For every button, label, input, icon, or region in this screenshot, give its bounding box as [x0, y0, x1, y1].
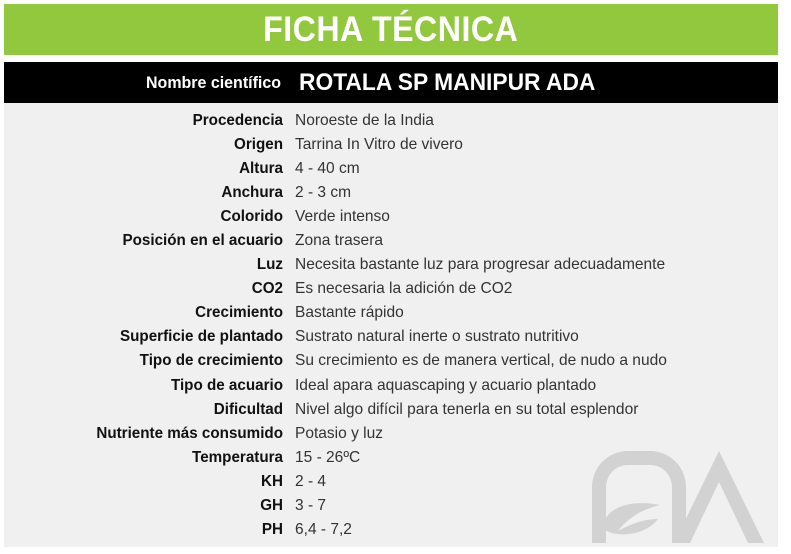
header-banner: FICHA TÉCNICA [4, 4, 778, 55]
spec-row: CO2Es necesaria la adición de CO2 [4, 281, 778, 305]
spec-row: ColoridoVerde intenso [4, 209, 778, 233]
spec-value: 2 - 3 cm [295, 185, 351, 201]
spec-label: Tipo de acuario [18, 378, 283, 394]
spec-row: LuzNecesita bastante luz para progresar … [4, 257, 778, 281]
spec-row: PH6,4 - 7,2 [4, 522, 778, 546]
spec-label: CO2 [18, 281, 283, 297]
spec-row: KH2 - 4 [4, 474, 778, 498]
spec-row: GH3 - 7 [4, 498, 778, 522]
spec-value: 2 - 4 [295, 474, 326, 490]
spec-row: Superficie de plantadoSustrato natural i… [4, 329, 778, 353]
spec-label: PH [18, 522, 283, 538]
spec-row: Tipo de acuarioIdeal apara aquascaping y… [4, 378, 778, 402]
spec-value: Bastante rápido [295, 305, 404, 321]
spec-label: KH [18, 474, 283, 490]
spec-row: Anchura2 - 3 cm [4, 185, 778, 209]
spec-row: Tipo de crecimientoSu crecimiento es de … [4, 353, 778, 377]
spec-label: Luz [18, 257, 283, 273]
spec-row: CrecimientoBastante rápido [4, 305, 778, 329]
spec-value: 15 - 26ºC [295, 450, 360, 466]
spec-value: Su crecimiento es de manera vertical, de… [295, 353, 667, 369]
spec-value: Tarrina In Vitro de vivero [295, 137, 463, 153]
spec-label: Nutriente más consumido [18, 426, 283, 442]
spec-value: 4 - 40 cm [295, 161, 360, 177]
spec-label: Temperatura [18, 450, 283, 466]
spec-value: Potasio y luz [295, 426, 383, 442]
spec-row: Nutriente más consumidoPotasio y luz [4, 426, 778, 450]
spec-row: Temperatura15 - 26ºC [4, 450, 778, 474]
specs-table: ProcedenciaNoroeste de la IndiaOrigenTar… [4, 113, 778, 546]
page-title: FICHA TÉCNICA [263, 12, 518, 47]
scientific-name-label: Nombre científico [21, 74, 281, 91]
spec-value: Sustrato natural inerte o sustrato nutri… [295, 329, 579, 345]
spec-value: Noroeste de la India [295, 113, 434, 129]
spec-label: Altura [18, 161, 283, 177]
spec-label: Anchura [18, 185, 283, 201]
spec-row: Posición en el acuarioZona trasera [4, 233, 778, 257]
specs-panel: ProcedenciaNoroeste de la IndiaOrigenTar… [4, 103, 778, 547]
spec-label: GH [18, 498, 283, 514]
spec-value: 3 - 7 [295, 498, 326, 514]
spec-value: Zona trasera [295, 233, 383, 249]
spec-label: Crecimiento [18, 305, 283, 321]
spec-value: 6,4 - 7,2 [295, 522, 352, 538]
ficha-tecnica-page: FICHA TÉCNICA Nombre científico ROTALA S… [0, 0, 791, 554]
scientific-name-band: Nombre científico ROTALA SP MANIPUR ADA [4, 62, 778, 103]
spec-label: Procedencia [18, 113, 283, 129]
spec-value: Es necesaria la adición de CO2 [295, 281, 512, 297]
spec-label: Origen [18, 137, 283, 153]
spec-value: Verde intenso [295, 209, 390, 225]
spec-row: Altura4 - 40 cm [4, 161, 778, 185]
spec-value: Necesita bastante luz para progresar ade… [295, 257, 665, 273]
spec-row: DificultadNivel algo difícil para tenerl… [4, 402, 778, 426]
scientific-name-value: ROTALA SP MANIPUR ADA [299, 71, 595, 95]
spec-label: Tipo de crecimiento [18, 353, 283, 369]
spec-row: ProcedenciaNoroeste de la India [4, 113, 778, 137]
spec-label: Dificultad [18, 402, 283, 418]
spec-row: OrigenTarrina In Vitro de vivero [4, 137, 778, 161]
spec-label: Colorido [18, 209, 283, 225]
spec-label: Posición en el acuario [18, 233, 283, 249]
spec-value: Ideal apara aquascaping y acuario planta… [295, 378, 596, 394]
spec-value: Nivel algo difícil para tenerla en su to… [295, 402, 638, 418]
spec-label: Superficie de plantado [18, 329, 283, 345]
